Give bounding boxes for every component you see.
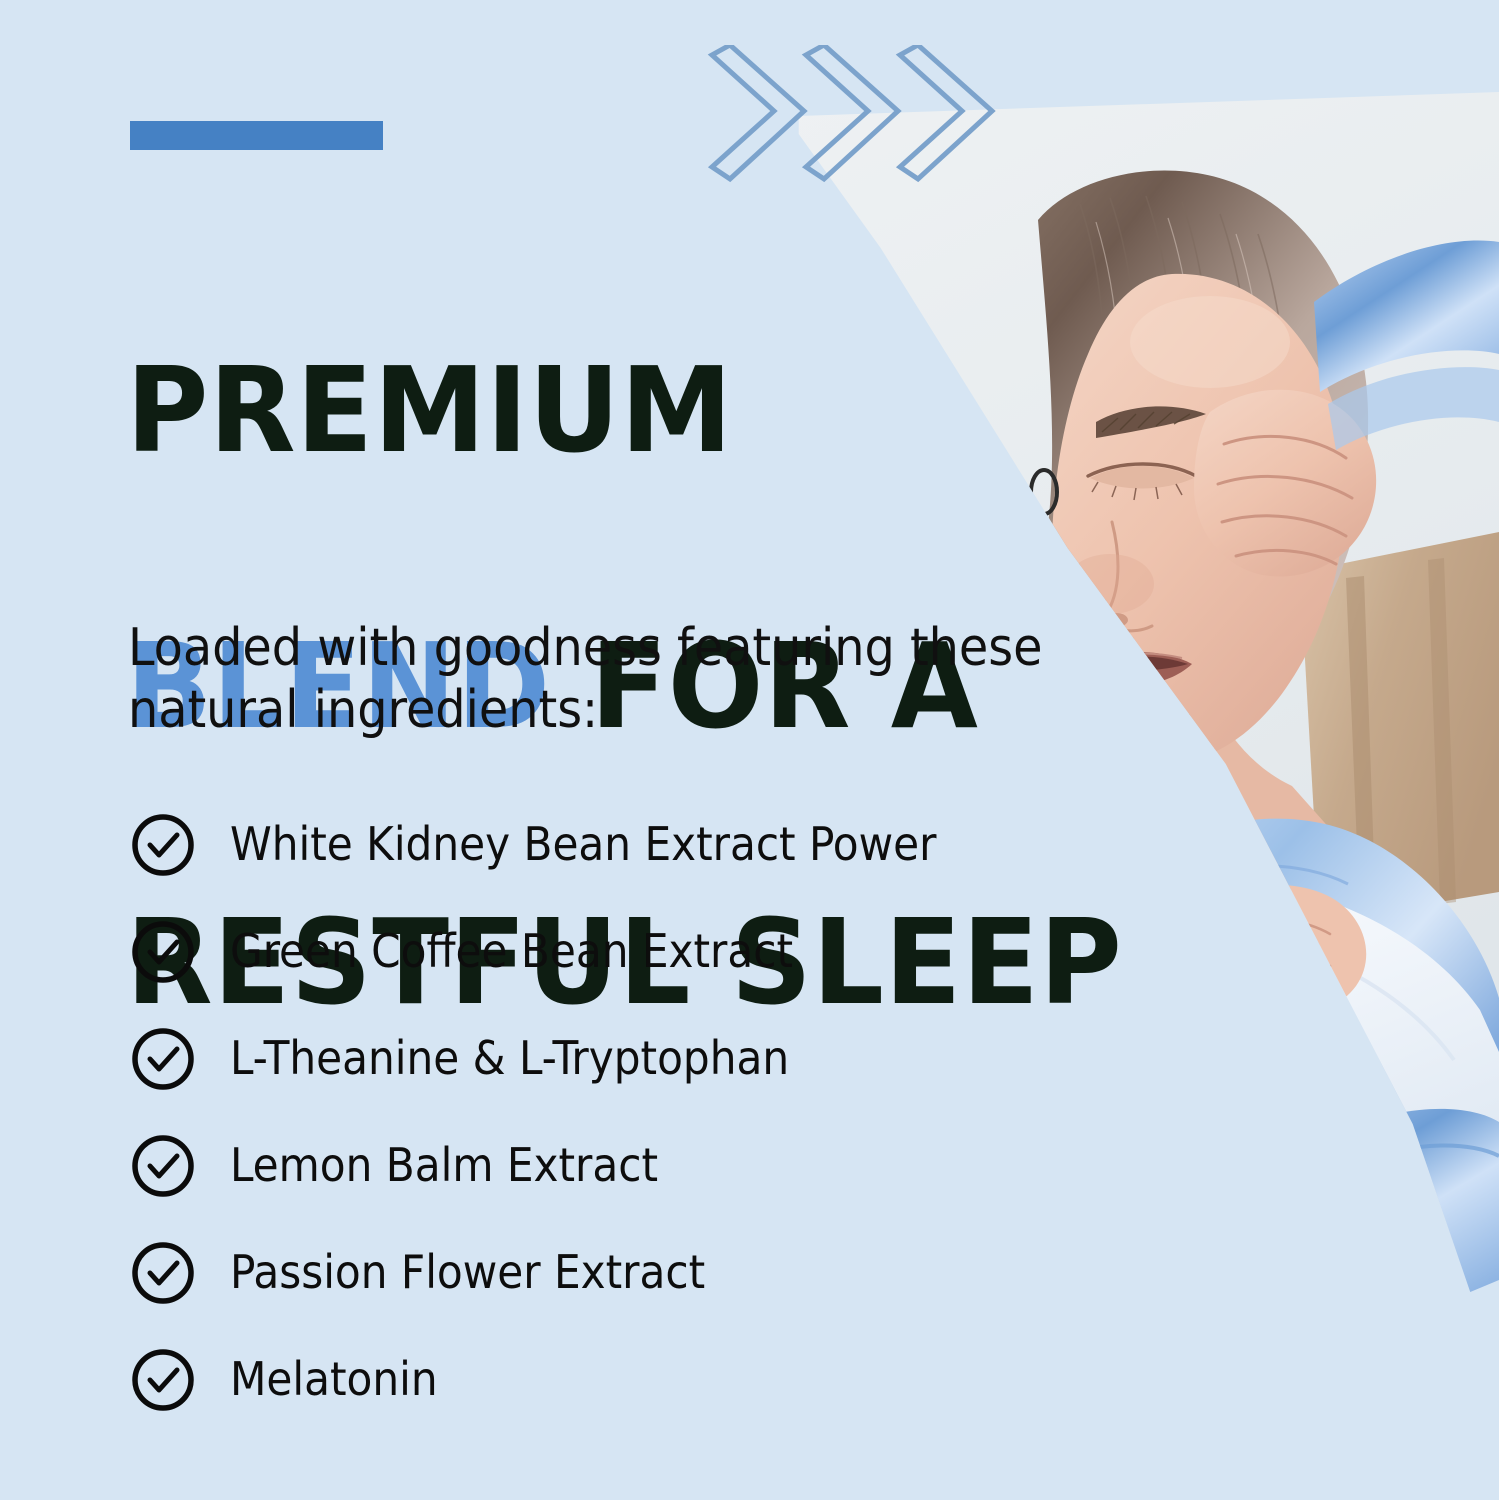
chevron-arrows xyxy=(700,45,1010,190)
list-item: Lemon Balm Extract xyxy=(128,1133,1088,1240)
list-item-label: Melatonin xyxy=(230,1347,438,1411)
list-item-label: Green Coffee Bean Extract xyxy=(230,919,793,983)
list-item: Passion Flower Extract xyxy=(128,1240,1088,1347)
list-item-label: White Kidney Bean Extract Power xyxy=(230,812,936,876)
check-circle-icon xyxy=(130,1026,196,1092)
check-circle-icon xyxy=(130,919,196,985)
check-circle-icon xyxy=(130,1133,196,1199)
list-item: White Kidney Bean Extract Power xyxy=(128,812,1088,919)
list-item: Melatonin xyxy=(128,1347,1088,1454)
list-item-label: Passion Flower Extract xyxy=(230,1240,705,1304)
check-circle-icon xyxy=(130,812,196,878)
list-item-label: Lemon Balm Extract xyxy=(230,1133,658,1197)
list-item: L-Theanine & L-Tryptophan xyxy=(128,1026,1088,1133)
accent-bar xyxy=(130,121,383,150)
list-item: Green Coffee Bean Extract xyxy=(128,919,1088,1026)
check-circle-icon xyxy=(130,1240,196,1306)
promo-graphic: PREMIUM BLEND FOR A RESTFUL SLEEP Loaded… xyxy=(0,0,1499,1500)
ingredients-list: White Kidney Bean Extract Power Green Co… xyxy=(128,812,1088,1454)
check-circle-icon xyxy=(130,1347,196,1413)
headline-line-1-text: PREMIUM xyxy=(126,341,733,479)
chevron-arrows-icon xyxy=(700,45,1010,190)
headline-line-1: PREMIUM xyxy=(126,341,1144,479)
list-item-label: L-Theanine & L-Tryptophan xyxy=(230,1026,789,1090)
subheading: Loaded with goodness featuring these nat… xyxy=(128,617,1077,741)
